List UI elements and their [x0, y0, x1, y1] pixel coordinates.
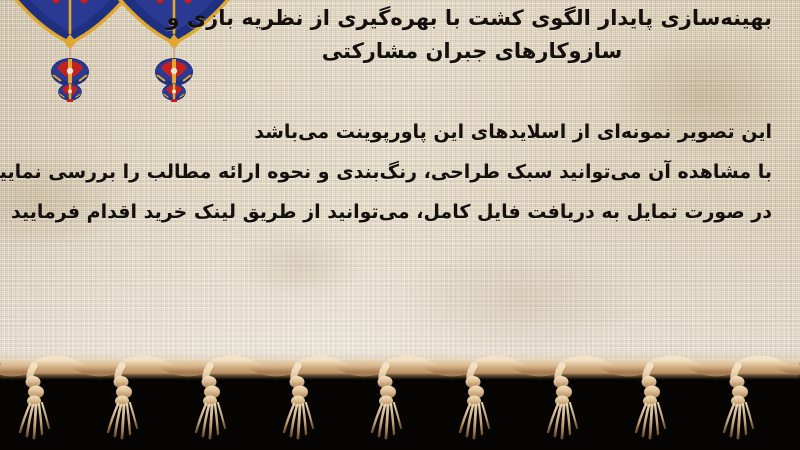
slide-title-line-2: سازوکارهای جبران مشارکتی	[172, 35, 772, 68]
slide-canvas: بهینه‌سازی پایدار الگوی کشت با بهره‌گیری…	[0, 0, 800, 450]
carpet-fringe-tassels-icon	[0, 352, 800, 450]
slide-body-line-1: این تصویر نمونه‌ای از اسلایدهای این پاور…	[28, 112, 772, 152]
slide-title: بهینه‌سازی پایدار الگوی کشت با بهره‌گیری…	[172, 2, 772, 68]
slide-title-line-1: بهینه‌سازی پایدار الگوی کشت با بهره‌گیری…	[172, 2, 772, 35]
slide-body-line-2: با مشاهده آن می‌توانید سبک طراحی، رنگ‌بن…	[28, 152, 772, 192]
slide-body-text: این تصویر نمونه‌ای از اسلایدهای این پاور…	[28, 112, 772, 232]
slide-body-line-3: در صورت تمایل به دریافت فایل کامل، می‌تو…	[28, 192, 772, 232]
